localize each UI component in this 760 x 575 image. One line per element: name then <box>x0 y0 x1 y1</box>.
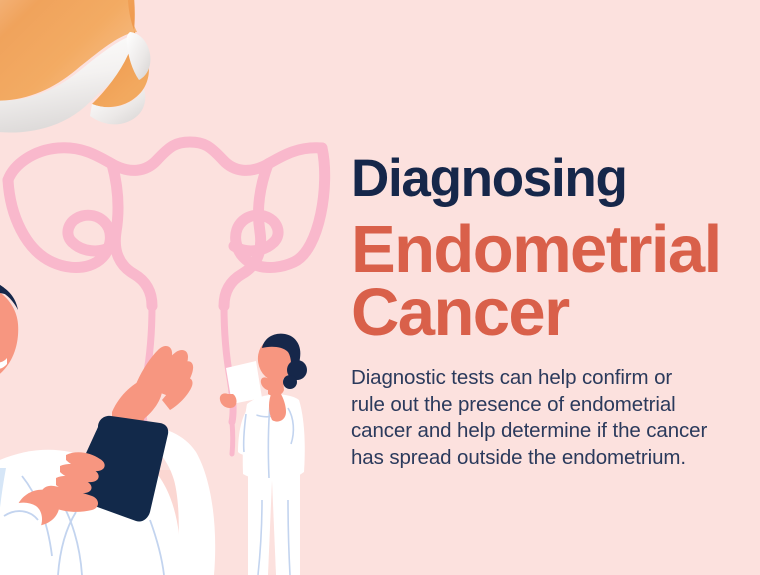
body-copy-line: Diagnostic tests can help confirm or <box>351 365 731 392</box>
headline-line-endometrial: Endometrial <box>351 215 760 284</box>
body-copy-line: cancer and help determine if the cancer <box>351 418 731 445</box>
headline-line-diagnosing: Diagnosing <box>351 150 760 207</box>
body-copy-line: has spread outside the endometrium. <box>351 445 731 472</box>
headline-line-cancer: Cancer <box>351 278 760 347</box>
headline-block: Diagnosing Endometrial Cancer Diagnostic… <box>351 150 760 471</box>
poster-canvas: Diagnosing Endometrial Cancer Diagnostic… <box>0 0 760 575</box>
body-copy-line: rule out the presence of endometrial <box>351 392 731 419</box>
body-copy: Diagnostic tests can help confirm or rul… <box>351 365 731 471</box>
awareness-ribbon <box>0 0 150 133</box>
